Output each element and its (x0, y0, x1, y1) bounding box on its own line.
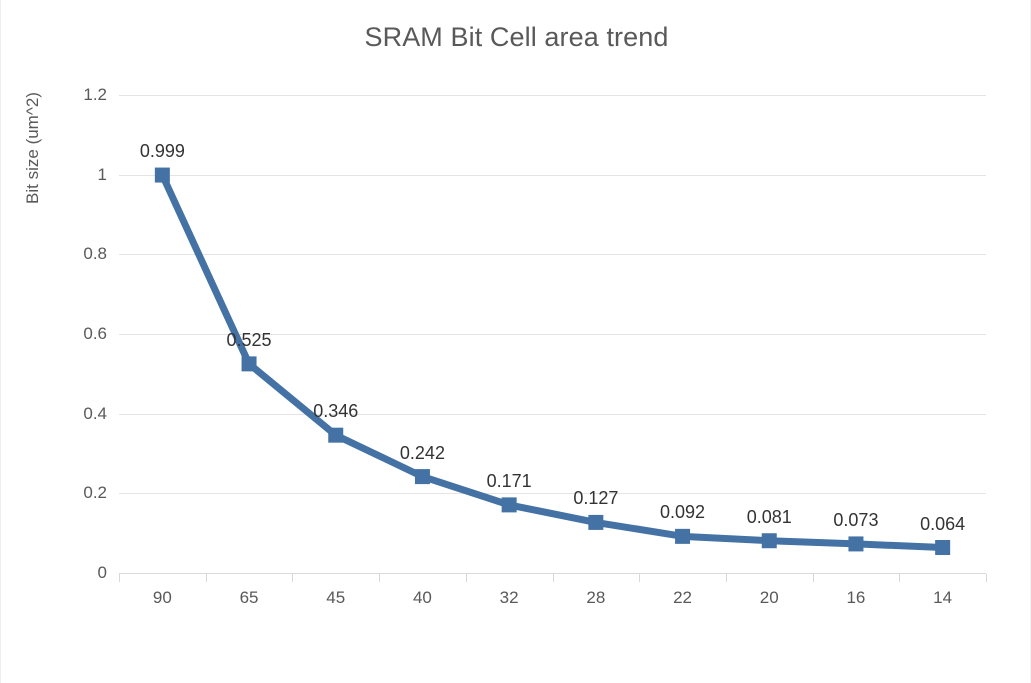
data-point-label: 0.242 (400, 443, 445, 464)
x-axis-tick-label: 22 (673, 588, 692, 608)
x-axis-tick-label: 90 (153, 588, 172, 608)
data-point-marker (328, 428, 343, 443)
data-point-label: 0.525 (227, 330, 272, 351)
x-axis-tick (119, 574, 120, 582)
x-axis-tick-label: 32 (500, 588, 519, 608)
data-point-marker (675, 529, 690, 544)
plot-area: 0.9990.5250.3460.2420.1710.1270.0920.081… (119, 95, 986, 573)
x-axis-tick-label: 45 (326, 588, 345, 608)
series-markers (155, 168, 950, 555)
x-axis-tick-label: 65 (240, 588, 259, 608)
x-axis-tick-label: 40 (413, 588, 432, 608)
data-point-label: 0.064 (920, 514, 965, 535)
data-point-marker (935, 540, 950, 555)
y-axis-tick-labels: 1.210.80.60.40.20 (39, 95, 107, 573)
data-point-marker (155, 168, 170, 183)
data-point-marker (415, 469, 430, 484)
x-axis-tick (466, 574, 467, 582)
data-point-label: 0.073 (833, 510, 878, 531)
y-axis-tick-label: 1.2 (47, 85, 107, 105)
x-axis-tick (986, 574, 987, 582)
x-axis-tick (899, 574, 900, 582)
x-axis-tick (813, 574, 814, 582)
y-axis-tick-label: 0 (47, 563, 107, 583)
data-point-label: 0.092 (660, 502, 705, 523)
data-point-label: 0.171 (487, 471, 532, 492)
x-axis-tick (206, 574, 207, 582)
y-axis-tick-label: 1 (47, 165, 107, 185)
x-axis-tick (639, 574, 640, 582)
x-axis-tick-labels: 90654540322822201614 (119, 588, 986, 614)
y-axis-tick-label: 0.2 (47, 483, 107, 503)
x-axis-tick (292, 574, 293, 582)
data-point-label: 0.081 (747, 507, 792, 528)
x-axis-tick (379, 574, 380, 582)
series-polyline (162, 175, 942, 547)
x-axis-tick-label: 28 (586, 588, 605, 608)
y-axis-tick-label: 0.6 (47, 324, 107, 344)
data-point-marker (848, 536, 863, 551)
chart-title: SRAM Bit Cell area trend (1, 22, 1031, 53)
data-point-marker (242, 356, 257, 371)
x-axis-tick-label: 20 (760, 588, 779, 608)
x-axis-tick (726, 574, 727, 582)
data-point-label: 0.999 (140, 141, 185, 162)
chart-container: SRAM Bit Cell area trend Bit size (um^2)… (0, 0, 1031, 683)
y-axis-tick-label: 0.4 (47, 404, 107, 424)
data-point-marker (588, 515, 603, 530)
y-axis-tick-label: 0.8 (47, 244, 107, 264)
x-axis-tick-label: 14 (933, 588, 952, 608)
data-point-label: 0.346 (313, 401, 358, 422)
data-point-marker (502, 497, 517, 512)
x-axis-tick-label: 16 (846, 588, 865, 608)
data-point-marker (762, 533, 777, 548)
x-axis-tick (553, 574, 554, 582)
data-point-label: 0.127 (573, 488, 618, 509)
